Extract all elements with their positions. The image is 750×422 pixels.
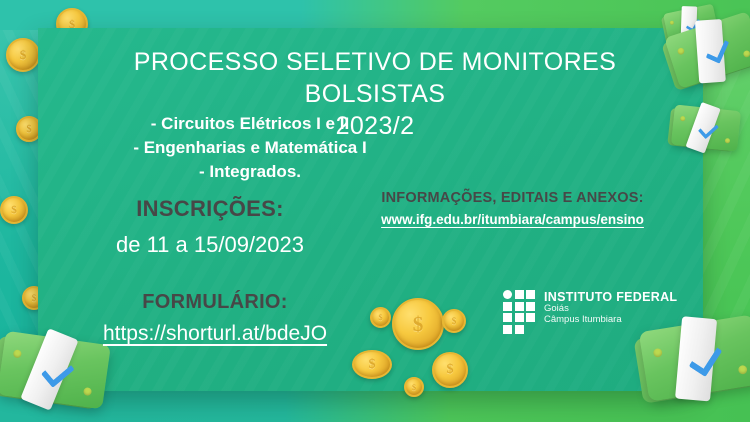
course-list-item: - Integrados. [30, 160, 470, 184]
form-heading: FORMULÁRIO: [55, 291, 375, 314]
information-heading: INFORMAÇÕES, EDITAIS E ANEXOS: [355, 190, 670, 206]
ifg-logo-campus: Câmpus Itumbiara [544, 315, 677, 326]
form-url-link[interactable]: https://shorturl.at/bdeJO [103, 322, 327, 346]
ifg-logo-name: INSTITUTO FEDERAL [544, 290, 677, 304]
course-list-item: - Circuitos Elétricos I e II [30, 112, 470, 136]
information-url-link[interactable]: www.ifg.edu.br/itumbiara/campus/ensino [381, 212, 644, 227]
inscriptions-dates: de 11 a 15/09/2023 [30, 232, 390, 258]
ifg-logo-mark-icon [503, 290, 535, 334]
course-list-item: - Engenharias e Matemática I [30, 136, 470, 160]
ifg-logo-text: INSTITUTO FEDERAL Goiás Câmpus Itumbiara [544, 289, 677, 325]
ifg-logo: INSTITUTO FEDERAL Goiás Câmpus Itumbiara [503, 289, 677, 334]
course-list: - Circuitos Elétricos I e II - Engenhari… [30, 112, 470, 184]
title-line-1: PROCESSO SELETIVO DE MONITORES BOLSISTAS [70, 46, 680, 110]
information-block: INFORMAÇÕES, EDITAIS E ANEXOS: www.ifg.e… [355, 190, 670, 229]
inscriptions-block: INSCRIÇÕES: de 11 a 15/09/2023 [30, 196, 390, 258]
form-block: FORMULÁRIO: https://shorturl.at/bdeJO [55, 291, 375, 346]
inscriptions-heading: INSCRIÇÕES: [30, 196, 390, 222]
poster-content: PROCESSO SELETIVO DE MONITORES BOLSISTAS… [0, 0, 750, 422]
poster-canvas: PROCESSO SELETIVO DE MONITORES BOLSISTAS… [0, 0, 750, 422]
